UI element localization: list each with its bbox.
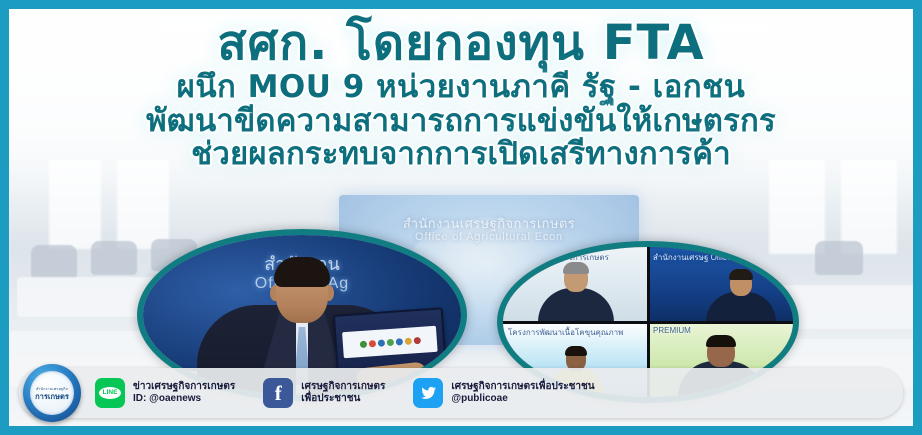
participant-body bbox=[706, 292, 776, 322]
video-panel-caption: PREMIUM bbox=[653, 326, 788, 335]
oae-logo[interactable]: สำนักงานเศรษฐกิจ การเกษตร bbox=[23, 364, 81, 422]
participant-body bbox=[538, 288, 614, 322]
social-links: LINE ข่าวเศรษฐกิจการเกษตร ID: @oaenews f… bbox=[95, 378, 595, 408]
social-line-2: ID: @oaenews bbox=[133, 393, 235, 405]
video-panel-2: สำนักงานเศรษฐ Office of Agricultu bbox=[648, 247, 793, 322]
video-panel-caption: โครงการพัฒนาเนื้อโคขุนคุณภาพ bbox=[508, 326, 643, 339]
facebook-icon[interactable]: f bbox=[263, 378, 293, 408]
folder-logo-dot bbox=[368, 340, 375, 347]
video-panel-1: สำนักงานเศรษฐกิจการเกษตร bbox=[503, 247, 648, 322]
window-panel bbox=[769, 159, 825, 254]
social-text-twitter: เศรษฐกิจการเกษตรเพื่อประชาชน @publicoae bbox=[451, 381, 594, 405]
logo-text-line-2: การเกษตร bbox=[35, 393, 69, 401]
social-item-facebook[interactable]: f เศรษฐกิจการเกษตร เพื่อประชาชน bbox=[263, 378, 385, 408]
line-icon[interactable]: LINE bbox=[95, 378, 125, 408]
participant-hair bbox=[565, 346, 587, 356]
headline-line-3: พัฒนาขีดความสามารถการแข่งขันให้เกษตรกร bbox=[21, 105, 901, 137]
social-line-2: เพื่อประชาชน bbox=[301, 393, 385, 405]
social-line-1: เศรษฐกิจการเกษตรเพื่อประชาชน bbox=[451, 381, 594, 393]
poster-canvas: สำนักงานเศรษฐกิจการเกษตร Office of Agric… bbox=[0, 0, 922, 435]
folder-logo-dot bbox=[413, 336, 420, 343]
social-item-line[interactable]: LINE ข่าวเศรษฐกิจการเกษตร ID: @oaenews bbox=[95, 378, 235, 408]
folder-logo-dot bbox=[404, 337, 411, 344]
line-icon-badge: LINE bbox=[99, 387, 122, 400]
social-text-line: ข่าวเศรษฐกิจการเกษตร ID: @oaenews bbox=[133, 381, 235, 405]
folder-logo-dot bbox=[386, 338, 393, 345]
social-line-2: @publicoae bbox=[451, 393, 594, 405]
headline-line-1: สศก. โดยกองทุน FTA bbox=[21, 19, 901, 69]
social-line-1: เศรษฐกิจการเกษตร bbox=[301, 381, 385, 393]
chair bbox=[815, 241, 863, 275]
headline-line-4: ช่วยผลกระทบจากการเปิดเสรีทางการค้า bbox=[21, 138, 901, 170]
headline-line-2: ผนึก MOU 9 หน่วยงานภาคี รัฐ - เอกชน bbox=[21, 71, 901, 103]
oae-logo-inner: สำนักงานเศรษฐกิจ การเกษตร bbox=[30, 371, 74, 415]
folder-logo-dot bbox=[395, 338, 402, 345]
folder-logo-dot bbox=[359, 340, 366, 347]
facebook-icon-glyph: f bbox=[275, 383, 282, 404]
headline-block: สศก. โดยกองทุน FTA ผนึก MOU 9 หน่วยงานภา… bbox=[9, 19, 913, 171]
participant-hair bbox=[563, 262, 589, 274]
twitter-icon[interactable] bbox=[413, 378, 443, 408]
participant-hair bbox=[729, 269, 753, 280]
social-line-1: ข่าวเศรษฐกิจการเกษตร bbox=[133, 381, 235, 393]
window-panel bbox=[49, 159, 101, 249]
window-panel bbox=[841, 159, 897, 254]
chair bbox=[31, 245, 77, 279]
social-item-twitter[interactable]: เศรษฐกิจการเกษตรเพื่อประชาชน @publicoae bbox=[413, 378, 594, 408]
video-panel-caption: สำนักงานเศรษฐ Office of Agricultu bbox=[653, 251, 788, 264]
chair bbox=[91, 241, 137, 275]
footer-bar: สำนักงานเศรษฐกิจ การเกษตร LINE ข่าวเศรษฐ… bbox=[19, 368, 903, 418]
folder-logo-dot bbox=[377, 339, 384, 346]
grid-divider-horizontal bbox=[503, 321, 793, 324]
social-text-facebook: เศรษฐกิจการเกษตร เพื่อประชาชน bbox=[301, 381, 385, 405]
person-hair bbox=[274, 257, 330, 287]
folder-logo-strip bbox=[342, 326, 438, 358]
participant-hair bbox=[706, 335, 736, 347]
